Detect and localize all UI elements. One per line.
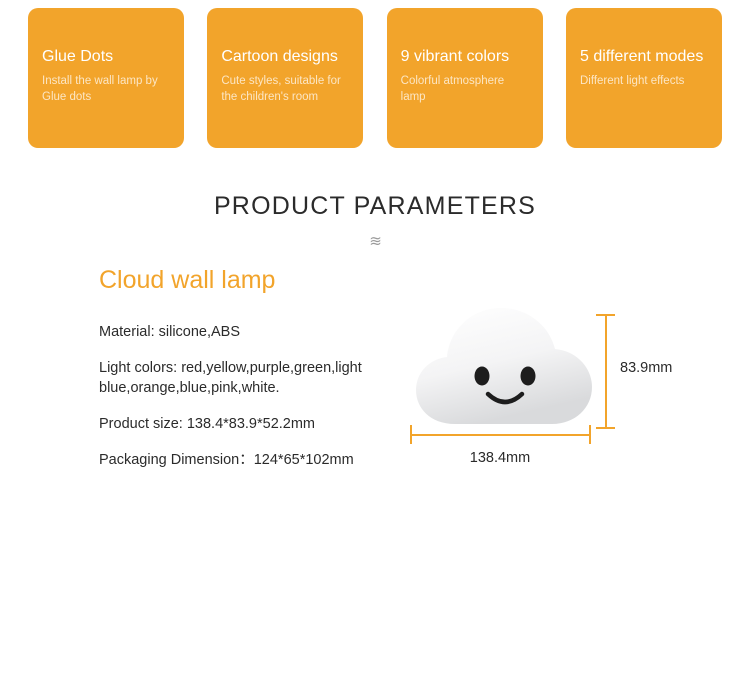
feature-card-description: Colorful atmosphere lamp	[401, 73, 529, 105]
height-dimension-label: 83.9mm	[620, 360, 672, 376]
wave-ornament-icon: ≋	[0, 232, 750, 250]
feature-card-title: Glue Dots	[42, 46, 170, 67]
section-title: PRODUCT PARAMETERS	[0, 192, 750, 221]
spec-material: Material: silicone,ABS	[99, 322, 399, 342]
spec-product-size: Product size: 138.4*83.9*52.2mm	[99, 414, 399, 434]
feature-card-title: 9 vibrant colors	[401, 46, 529, 67]
width-dimension-guide: 138.4mm	[404, 422, 604, 472]
feature-card-description: Different light effects	[580, 73, 708, 89]
product-name: Cloud wall lamp	[99, 266, 275, 295]
feature-card-different-modes: 5 different modes Different light effect…	[566, 8, 722, 148]
dimension-line-horizontal	[410, 434, 590, 436]
feature-card-strip: Glue Dots Install the wall lamp by Glue …	[0, 8, 750, 156]
feature-card-cartoon-designs: Cartoon designs Cute styles, suitable fo…	[207, 8, 363, 148]
product-detail-page: Glue Dots Install the wall lamp by Glue …	[0, 0, 750, 700]
feature-card-glue-dots: Glue Dots Install the wall lamp by Glue …	[28, 8, 184, 148]
feature-card-title: 5 different modes	[580, 46, 708, 67]
cloud-icon	[408, 296, 608, 436]
spec-light-colors: Light colors: red,yellow,purple,green,li…	[99, 358, 399, 398]
feature-card-description: Install the wall lamp by Glue dots	[42, 73, 170, 105]
height-dimension-guide: 83.9mm	[596, 308, 706, 436]
dimension-cap-right	[589, 425, 591, 444]
spec-packaging-dimension: Packaging Dimension：124*65*102mm	[99, 450, 399, 470]
dimension-line-vertical	[605, 314, 607, 428]
feature-card-description: Cute styles, suitable for the children's…	[221, 73, 349, 105]
product-spec-list: Material: silicone,ABS Light colors: red…	[99, 322, 399, 486]
feature-card-vibrant-colors: 9 vibrant colors Colorful atmosphere lam…	[387, 8, 543, 148]
width-dimension-label: 138.4mm	[404, 450, 596, 466]
feature-card-title: Cartoon designs	[221, 46, 349, 67]
cloud-lamp-illustration	[408, 296, 608, 436]
